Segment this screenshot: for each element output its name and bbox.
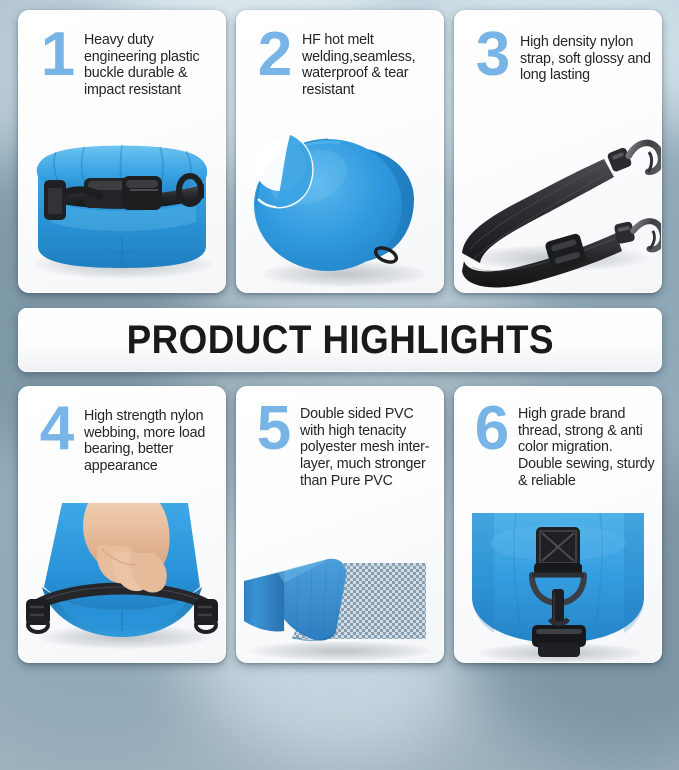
product-highlights-banner: PRODUCT HIGHLIGHTS xyxy=(18,308,662,372)
panel-2-image xyxy=(236,113,444,293)
panel-6-image xyxy=(454,513,662,663)
highlight-text-4: High strength nylon webbing, more load b… xyxy=(82,400,218,475)
highlight-text-2: HF hot melt welding,seamless, waterproof… xyxy=(298,26,434,99)
highlight-number-6: 6 xyxy=(466,400,516,457)
panel-4-image xyxy=(18,503,226,663)
panel-3-image xyxy=(454,113,662,293)
panel-1-image xyxy=(18,118,226,293)
highlight-number-1: 1 xyxy=(32,26,82,83)
highlight-number-5: 5 xyxy=(248,400,298,457)
highlight-card-2: 2 HF hot melt welding,seamless, waterpro… xyxy=(236,10,444,293)
highlight-card-5: 5 Double sided PVC with high tenacity po… xyxy=(236,386,444,663)
infographic-board: 1 Heavy duty engineering plastic buckle … xyxy=(0,0,679,679)
highlight-number-2: 2 xyxy=(250,26,298,83)
highlight-card-4: 4 High strength nylon webbing, more load… xyxy=(18,386,226,663)
highlight-text-5: Double sided PVC with high tenacity poly… xyxy=(298,400,436,490)
highlight-card-1: 1 Heavy duty engineering plastic buckle … xyxy=(18,10,226,293)
highlight-text-6: High grade brand thread, strong & anti c… xyxy=(516,400,656,490)
highlight-card-6: 6 High grade brand thread, strong & anti… xyxy=(454,386,662,663)
highlight-number-4: 4 xyxy=(30,400,82,457)
highlight-card-3: 3 High density nylon strap, soft glossy … xyxy=(454,10,662,293)
highlight-text-3: High density nylon strap, soft glossy an… xyxy=(516,26,654,84)
highlight-text-1: Heavy duty engineering plastic buckle du… xyxy=(82,26,216,99)
banner-title: PRODUCT HIGHLIGHTS xyxy=(126,318,553,363)
panel-5-image xyxy=(236,533,444,663)
highlight-number-3: 3 xyxy=(468,26,516,83)
